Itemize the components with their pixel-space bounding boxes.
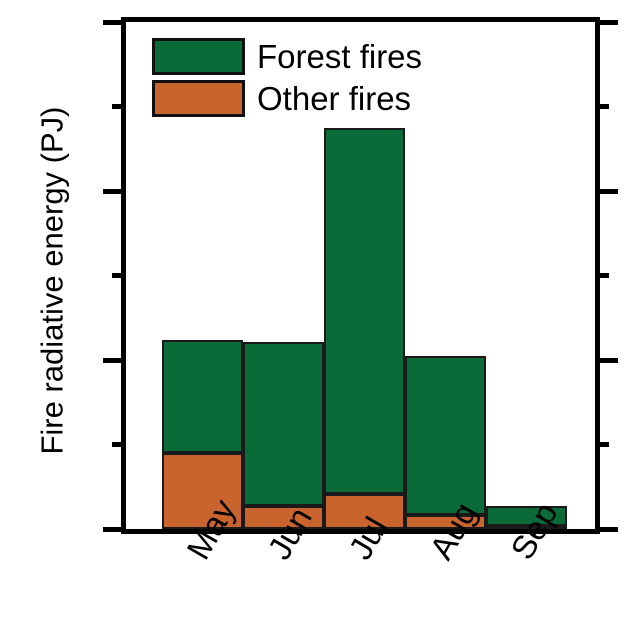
y-axis-tick-right-0 (595, 527, 618, 532)
legend-label-forest-fires: Forest fires (257, 40, 422, 73)
legend-label-other-fires: Other fires (257, 82, 411, 115)
bar-sep (486, 22, 567, 529)
y-axis-tick-right-400 (595, 189, 618, 194)
y-axis-tick-right-300 (595, 273, 609, 278)
y-axis-tick-right-600 (595, 20, 618, 25)
y-axis-tick-left-0 (103, 527, 126, 532)
y-axis-title: Fire radiative energy (PJ) (37, 1, 68, 561)
legend-swatch-forest-fires (152, 38, 245, 75)
y-axis-tick-left-500 (112, 104, 126, 109)
y-axis-tick-left-600 (103, 20, 126, 25)
plot-area: Forest fires Other fires (121, 17, 600, 534)
plot-inner: Forest fires Other fires (126, 22, 595, 529)
y-axis-tick-left-200 (103, 358, 126, 363)
y-axis-tick-left-300 (112, 273, 126, 278)
legend-item-forest-fires: Forest fires (152, 35, 422, 77)
bar-segment-forest-fires-jul (324, 128, 405, 495)
chart-figure: Fire radiative energy (PJ) 600 400 200 0… (0, 0, 632, 625)
legend-swatch-other-fires (152, 80, 245, 117)
y-axis-tick-right-500 (595, 104, 609, 109)
y-axis-tick-left-400 (103, 189, 126, 194)
y-axis-tick-right-100 (595, 442, 609, 447)
chart-legend: Forest fires Other fires (152, 35, 422, 119)
legend-item-other-fires: Other fires (152, 77, 422, 119)
y-axis-tick-right-200 (595, 358, 618, 363)
bar-segment-forest-fires-may (162, 340, 243, 453)
y-axis-tick-left-100 (112, 442, 126, 447)
